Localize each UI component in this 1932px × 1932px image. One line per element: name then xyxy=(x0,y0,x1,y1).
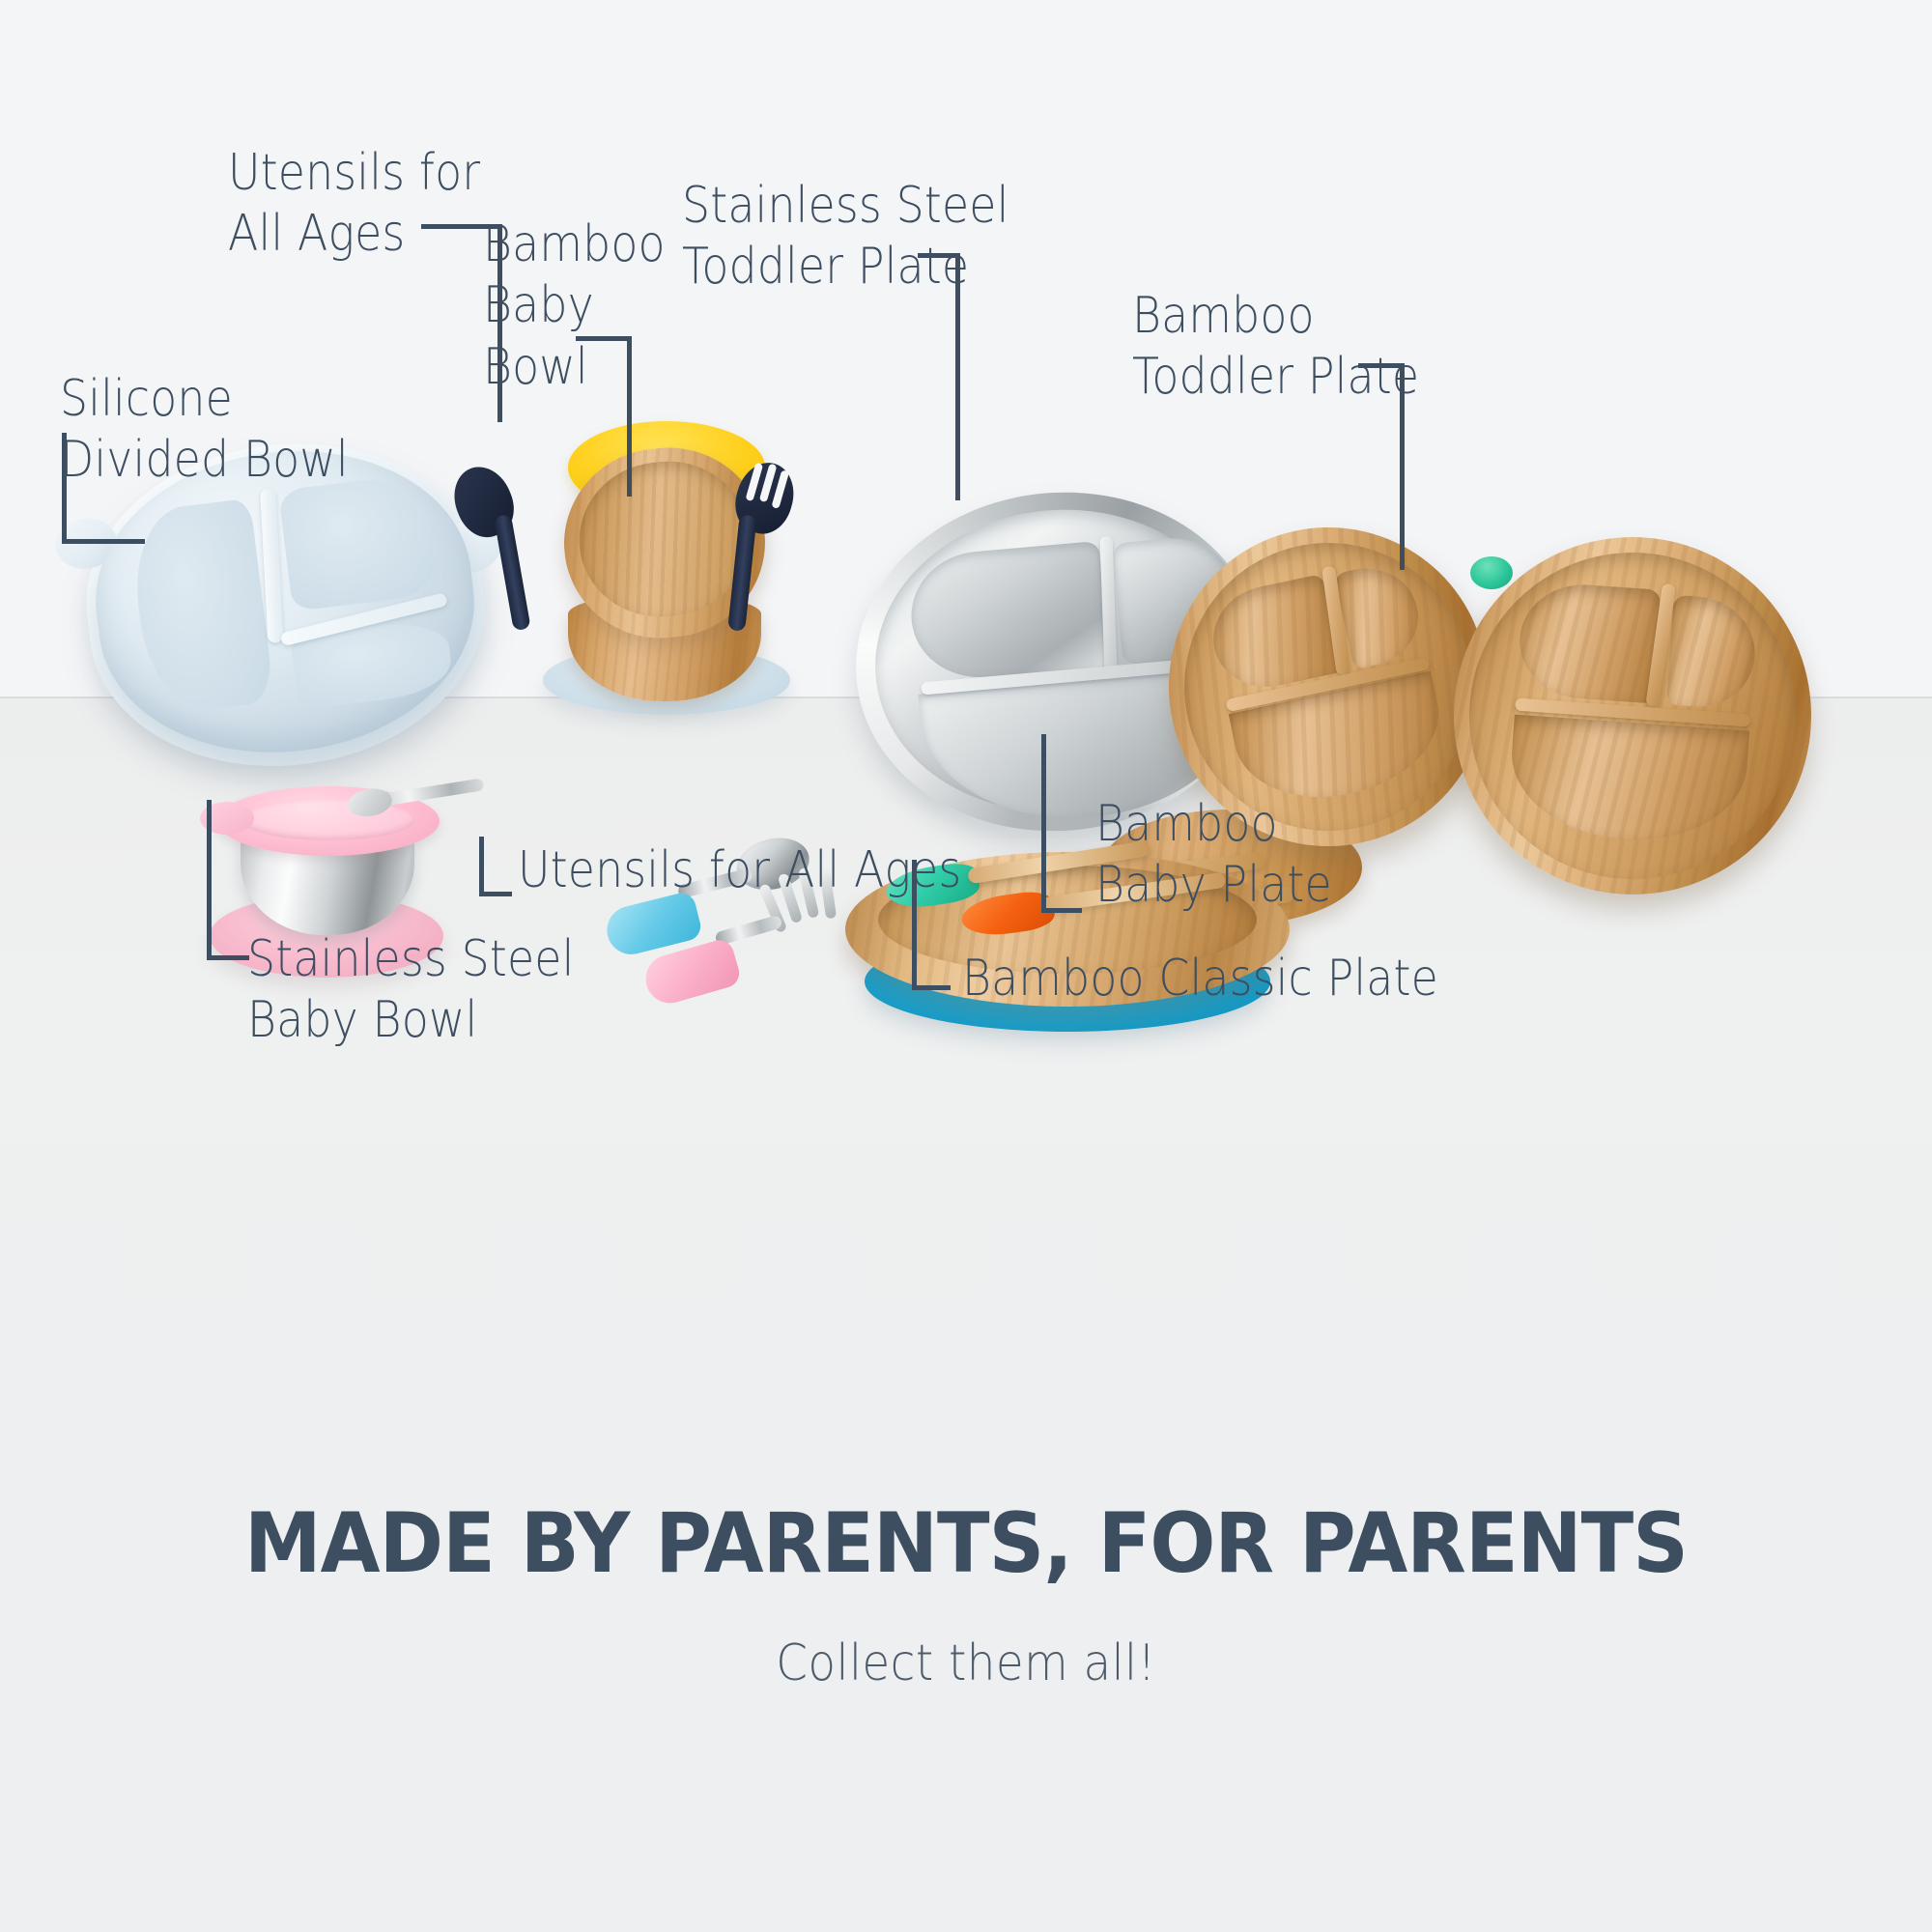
callout-label-bamboo-baby-plate: Bamboo Baby Plate xyxy=(1095,794,1332,917)
leader-line-bamboo-toddler-plate xyxy=(1358,363,1464,576)
product-bamboo-toddler-plate-right xyxy=(1442,526,1824,907)
leader-line-utensils-all-ages-bottom xyxy=(479,837,556,900)
bamboo-plate-compartment xyxy=(1666,594,1759,711)
leader-line-bamboo-classic-plate xyxy=(912,860,999,995)
leader-line-silicone-divided-bowl xyxy=(62,433,168,549)
callout-label-bamboo-classic-plate: Bamboo Classic Plate xyxy=(962,949,1438,1009)
silicone-bowl-compartment xyxy=(278,472,439,611)
infographic-canvas: Silicone Divided Bowl Utensils for All A… xyxy=(0,0,1932,1932)
footer-headline: MADE BY PARENTS, FOR PARENTS xyxy=(68,1495,1864,1592)
steel-plate-compartment xyxy=(906,541,1110,683)
bamboo-plate-compartment xyxy=(1507,714,1749,847)
leader-line-bamboo-baby-bowl xyxy=(576,336,682,500)
leader-line-stainless-steel-toddler-plate xyxy=(918,253,1024,504)
leader-line-stainless-steel-baby-bowl xyxy=(207,800,313,964)
footer-subheadline: Collect them all! xyxy=(97,1634,1835,1692)
callout-label-utensils-all-ages-bottom: Utensils for All Ages xyxy=(518,840,961,901)
bamboo-plate-compartment xyxy=(1517,581,1662,704)
